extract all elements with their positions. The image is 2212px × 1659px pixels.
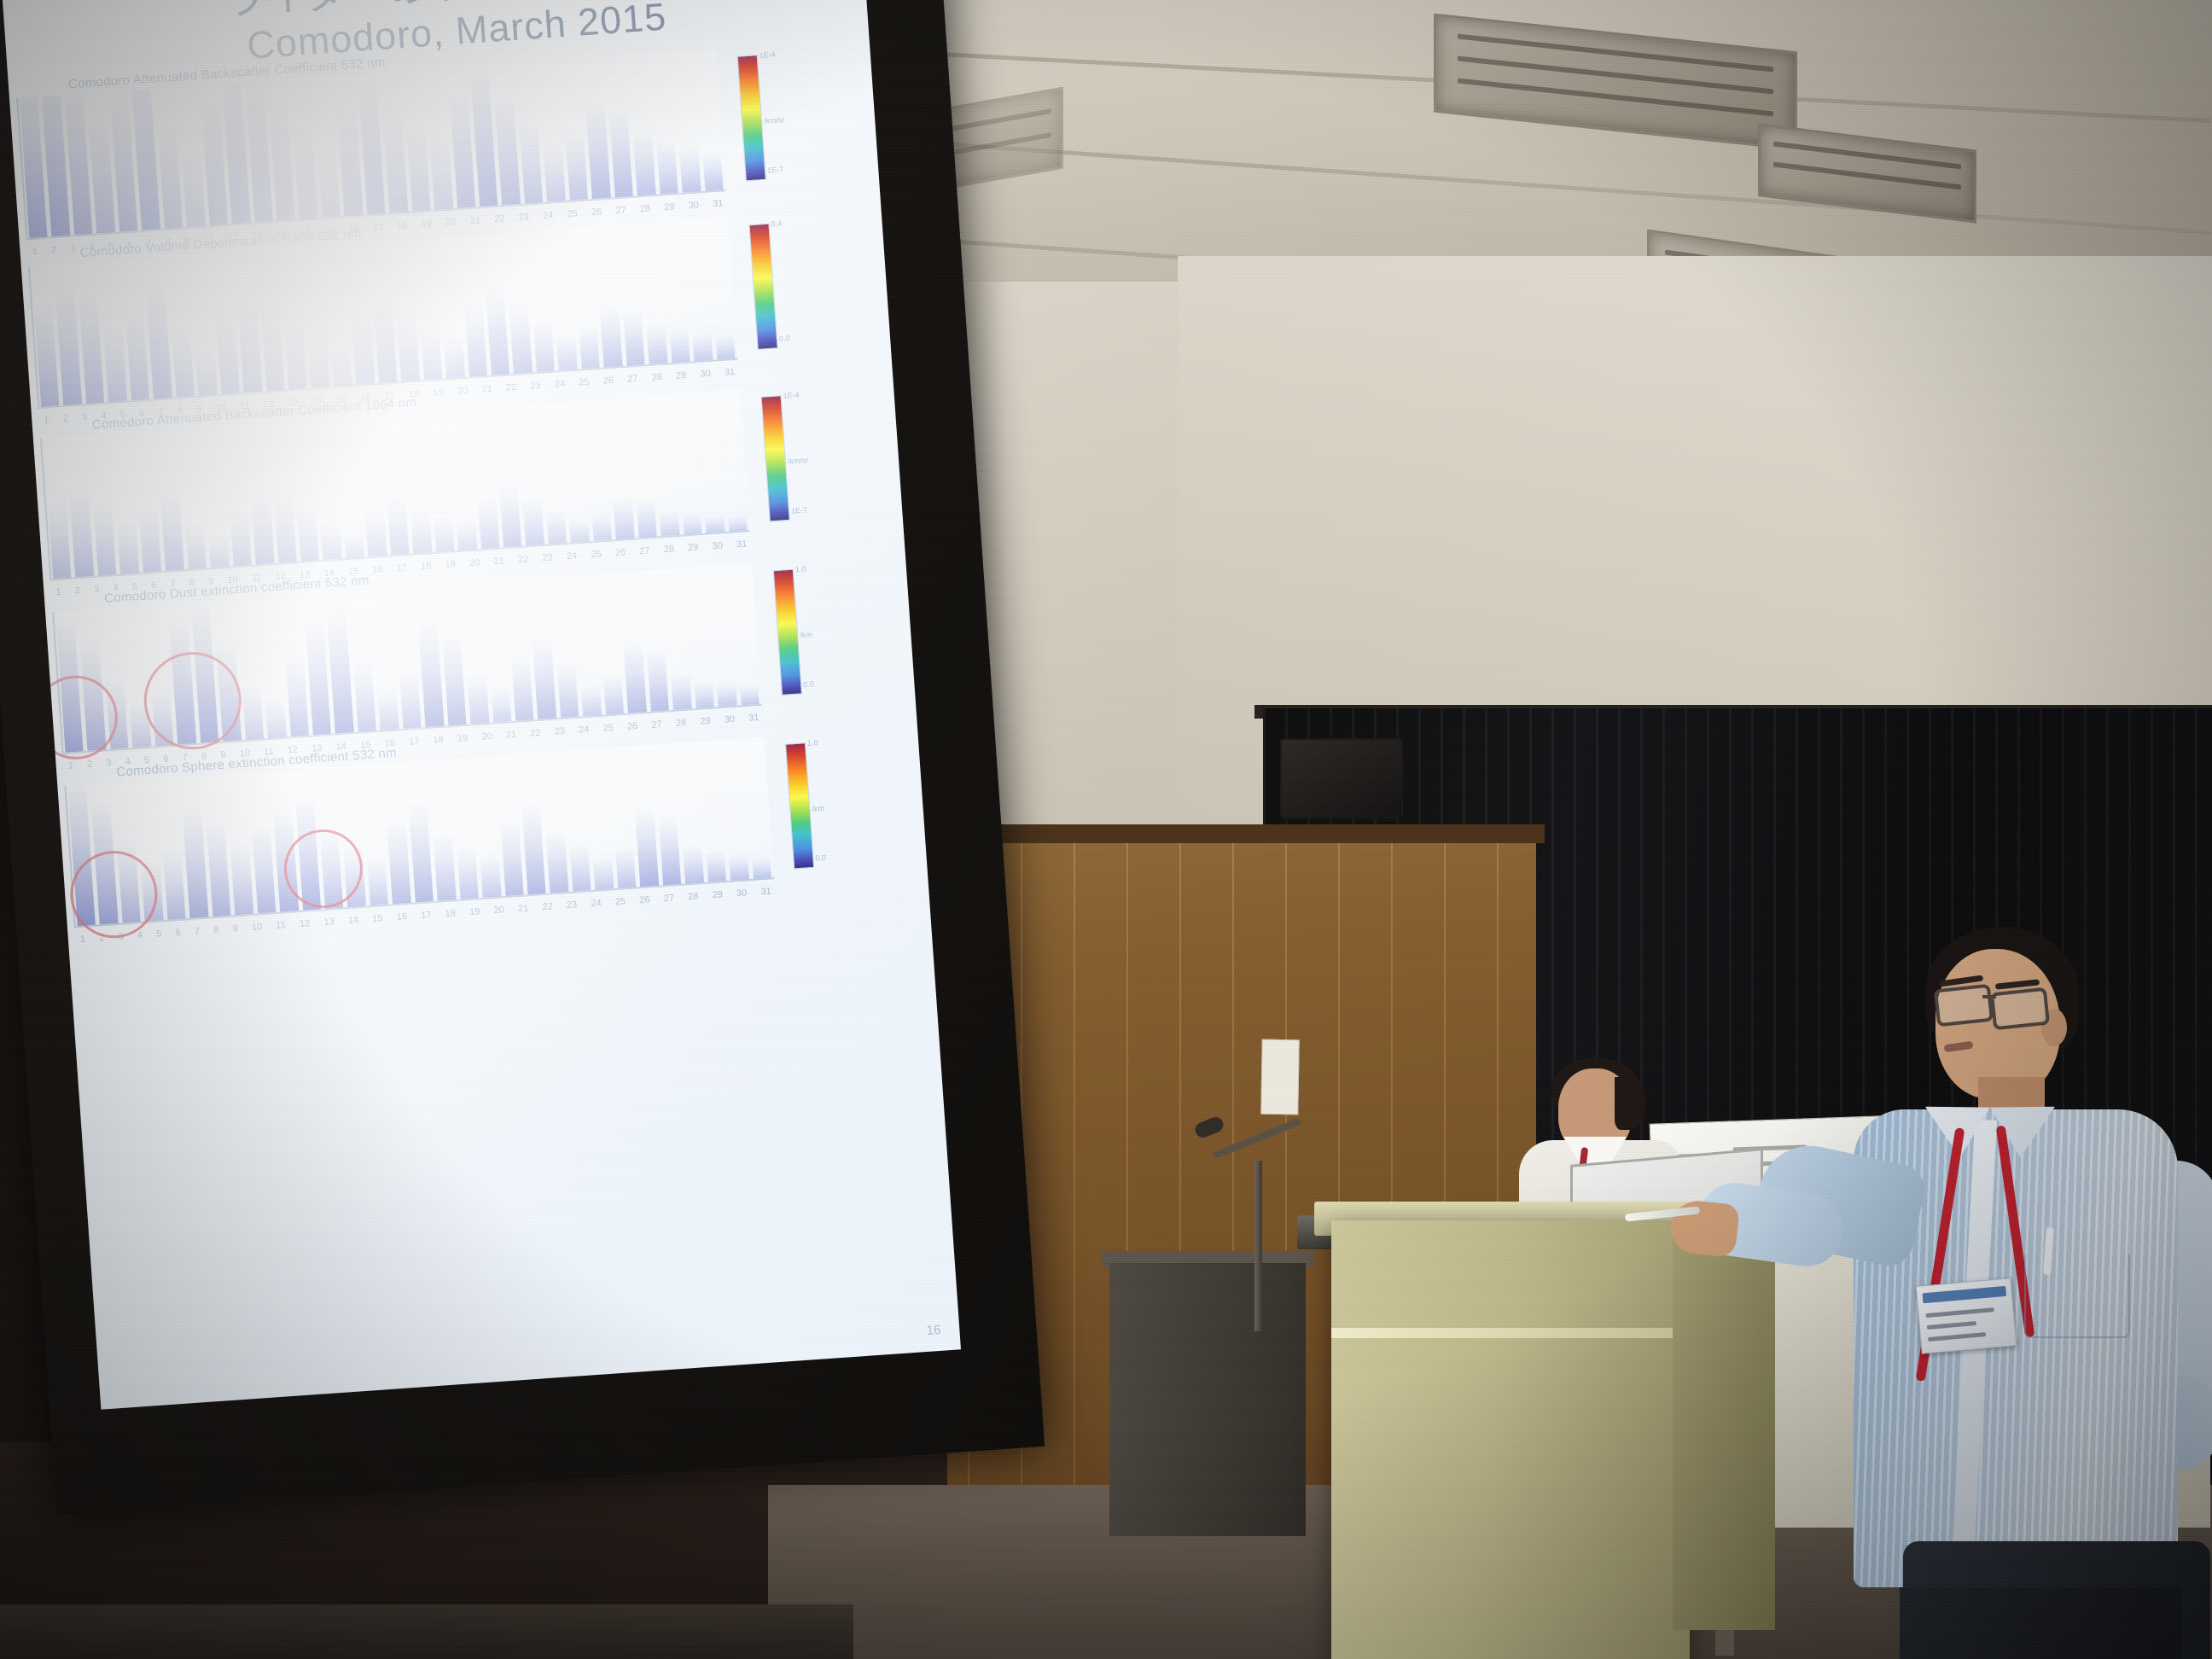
glasses-icon [1934,984,1994,1027]
slide-page-number: 16 [926,1323,941,1338]
name-badge [1916,1278,2017,1353]
glasses-icon [1990,987,2050,1031]
operator-hair-side [1615,1077,1645,1130]
colorbar-min-label: 1E-7 [791,505,808,515]
colorbar [773,569,802,696]
floor-left [0,1604,853,1659]
lectern-band [1331,1328,1690,1338]
lidar-panel-2: Comodoro Volume Depolarization Ratio 532… [28,214,787,407]
glasses-bridge [1982,995,1996,998]
wall-speaker-icon [1280,738,1403,818]
colorbar [748,224,777,350]
lidar-panel-5: Comodoro Sphere extinction coefficient 5… [64,734,823,927]
colorbar-unit-label: /km/sr [788,456,809,466]
colorbar-min-label: 0.0 [815,853,826,863]
colorbar-unit-label: /km [800,630,812,639]
lidar-panel-1: Comodoro Attenuated Backscatter Coeffici… [16,45,775,238]
lectern [1331,1220,1690,1659]
colorbar-max-label: 1E-4 [783,391,800,400]
av-cart [1109,1263,1306,1536]
presenter-legs [1900,1587,2181,1659]
lidar-panel-3: Comodoro Attenuated Backscatter Coeffici… [40,387,799,579]
colorbar-max-label: 1.0 [795,565,806,574]
colorbar-max-label: 1.0 [807,738,818,748]
colorbar-min-label: 0.0 [779,334,790,343]
wall-notice [1260,1039,1300,1115]
colorbar [761,395,790,521]
presentation-slide: ライダーのリアルタイム処理 Comodoro, March 2015 16 Co… [3,0,961,1410]
colorbar-unit-label: /km/sr [764,115,785,125]
photo-canvas: ライダーのリアルタイム処理 Comodoro, March 2015 16 Co… [0,0,2212,1659]
colorbar [737,55,766,181]
lectern-side [1673,1220,1775,1630]
projection-screen: ライダーのリアルタイム処理 Comodoro, March 2015 16 Co… [0,0,1045,1516]
colorbar-max-label: 1E-4 [759,50,776,60]
shirt-pocket [2024,1254,2130,1338]
colorbar-min-label: 0.0 [803,679,814,689]
colorbar-min-label: 1E-7 [767,165,784,174]
colorbar-unit-label: /km [812,803,824,812]
screen-surface: ライダーのリアルタイム処理 Comodoro, March 2015 16 Co… [3,0,961,1410]
colorbar-max-label: 0.4 [771,219,782,229]
colorbar [785,742,814,869]
mic-stand [1254,1161,1262,1331]
